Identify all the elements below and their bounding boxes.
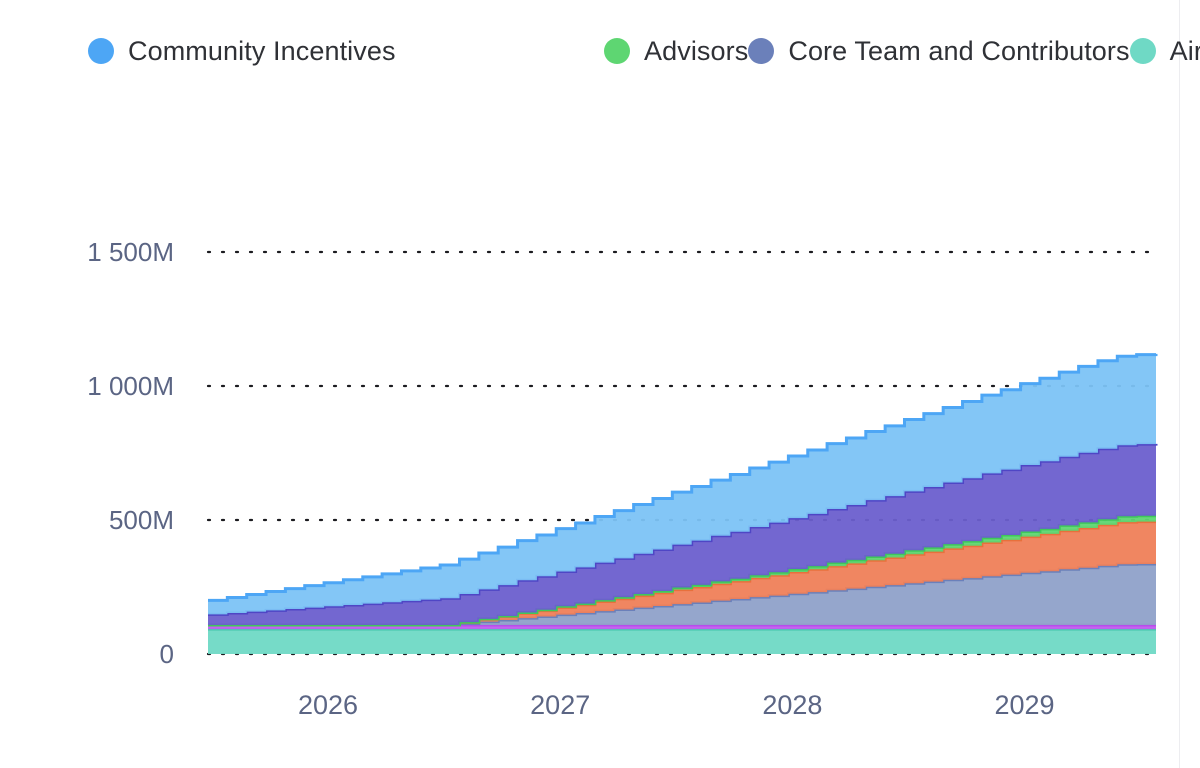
x-axis-tick-label: 2029: [994, 690, 1054, 720]
chart-legend: Community Incentives Advisors Core Team …: [88, 28, 1088, 74]
legend-item-label: Advisors: [644, 36, 748, 67]
legend-swatch-icon: [604, 38, 630, 64]
legend-swatch-icon: [1130, 38, 1156, 64]
legend-item-core-team-and-contributors[interactable]: Core Team and Contributors: [748, 28, 1129, 74]
area-series-group[interactable]: [208, 354, 1156, 654]
chart-card: Community Incentives Advisors Core Team …: [0, 0, 1180, 768]
legend-item-label: Airdrops: [1170, 36, 1200, 67]
y-axis-tick-label: 0: [160, 639, 174, 669]
legend-item-advisors[interactable]: Advisors: [604, 28, 748, 74]
chart-svg[interactable]: 0500M1 000M1 500M 2026202720282029: [0, 210, 1180, 768]
y-axis-tick-labels: 0500M1 000M1 500M: [87, 237, 174, 669]
x-axis-tick-label: 2027: [530, 690, 590, 720]
x-axis-tick-labels: 2026202720282029: [298, 690, 1055, 720]
stacked-area-chart[interactable]: 0500M1 000M1 500M 2026202720282029: [0, 210, 1180, 768]
legend-swatch-icon: [88, 38, 114, 64]
legend-item-community-incentives[interactable]: Community Incentives: [88, 28, 604, 74]
legend-item-label: Core Team and Contributors: [788, 36, 1129, 67]
y-axis-tick-label: 1 000M: [87, 371, 174, 401]
y-axis-tick-label: 500M: [109, 505, 174, 535]
legend-swatch-icon: [748, 38, 774, 64]
legend-item-airdrops[interactable]: Airdrops: [1130, 28, 1200, 74]
area-airdrops[interactable]: [208, 629, 1156, 654]
y-axis-tick-label: 1 500M: [87, 237, 174, 267]
x-axis-tick-label: 2026: [298, 690, 358, 720]
x-axis-tick-label: 2028: [762, 690, 822, 720]
legend-item-label: Community Incentives: [128, 36, 396, 67]
